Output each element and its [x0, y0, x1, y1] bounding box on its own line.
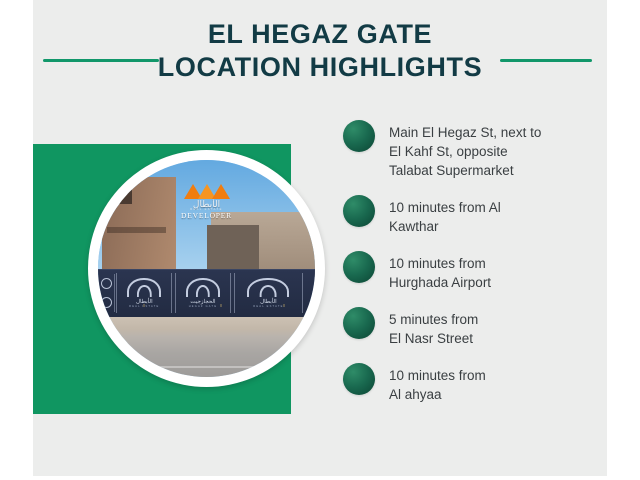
highlight-text: 5 minutes from El Nasr Street	[389, 307, 478, 348]
billboard-icon-column	[98, 274, 115, 312]
list-item: Main El Hegaz St, next to El Kahf St, op…	[343, 120, 593, 180]
list-item: 10 minutes from Hurghada Airport	[343, 251, 593, 292]
billboard-panel: الأبطال REAL ESTATE	[116, 273, 172, 313]
billboard-post	[143, 304, 145, 307]
developer-logo: الأبطال REAL ESTATE DEVELOPER	[176, 182, 238, 219]
highlight-text: 10 minutes from Al Kawthar	[389, 195, 501, 236]
billboard-badge-icon	[101, 278, 112, 289]
title-line-1: EL HEGAZ GATE	[33, 18, 607, 51]
divider-rule-right	[500, 59, 592, 62]
building-left	[102, 177, 176, 272]
road-ground	[98, 316, 315, 377]
bullet-dot-icon	[343, 307, 375, 339]
billboard-post	[283, 304, 285, 307]
poster-header: EL HEGAZ GATE LOCATION HIGHLIGHTS	[33, 18, 607, 98]
logo-developer-text: DEVELOPER	[176, 212, 238, 220]
bullet-dot-icon	[343, 120, 375, 152]
bullet-dot-icon	[343, 251, 375, 283]
title-line-2: LOCATION HIGHLIGHTS	[33, 51, 607, 84]
billboard-panel: الحجازجيت HEGAZ GATE	[175, 273, 231, 313]
bullet-dot-icon	[343, 195, 375, 227]
billboard-fence: الأبطال REAL ESTATE الحجازجيت HEGAZ GATE…	[98, 269, 315, 318]
road-edge	[98, 366, 315, 368]
highlight-text: 10 minutes from Hurghada Airport	[389, 251, 491, 292]
bullet-dot-icon	[343, 363, 375, 395]
photo-panel: الأبطال REAL ESTATE الحجازجيت HEGAZ GATE…	[33, 144, 325, 414]
highlight-text: Main El Hegaz St, next to El Kahf St, op…	[389, 120, 541, 180]
photo-inner: الأبطال REAL ESTATE الحجازجيت HEGAZ GATE…	[98, 160, 315, 377]
list-item: 10 minutes from Al ahyaa	[343, 363, 593, 404]
billboard-post	[220, 304, 222, 307]
billboard-panel: الأبطال REAL ESTATE	[234, 273, 304, 313]
divider-rule-left	[43, 59, 159, 62]
list-item: 5 minutes from El Nasr Street	[343, 307, 593, 348]
highlights-list: Main El Hegaz St, next to El Kahf St, op…	[343, 120, 593, 419]
list-item: 10 minutes from Al Kawthar	[343, 195, 593, 236]
arch-logo-icon	[127, 278, 161, 297]
location-photo: الأبطال REAL ESTATE الحجازجيت HEGAZ GATE…	[88, 150, 325, 387]
billboard-posts	[98, 304, 315, 307]
poster-canvas: EL HEGAZ GATE LOCATION HIGHLIGHTS	[33, 0, 607, 476]
arch-logo-icon	[186, 278, 220, 297]
arch-logo-icon	[247, 278, 289, 297]
highlight-text: 10 minutes from Al ahyaa	[389, 363, 486, 404]
page-title: EL HEGAZ GATE LOCATION HIGHLIGHTS	[33, 18, 607, 84]
mountain-arches-icon	[184, 182, 230, 199]
